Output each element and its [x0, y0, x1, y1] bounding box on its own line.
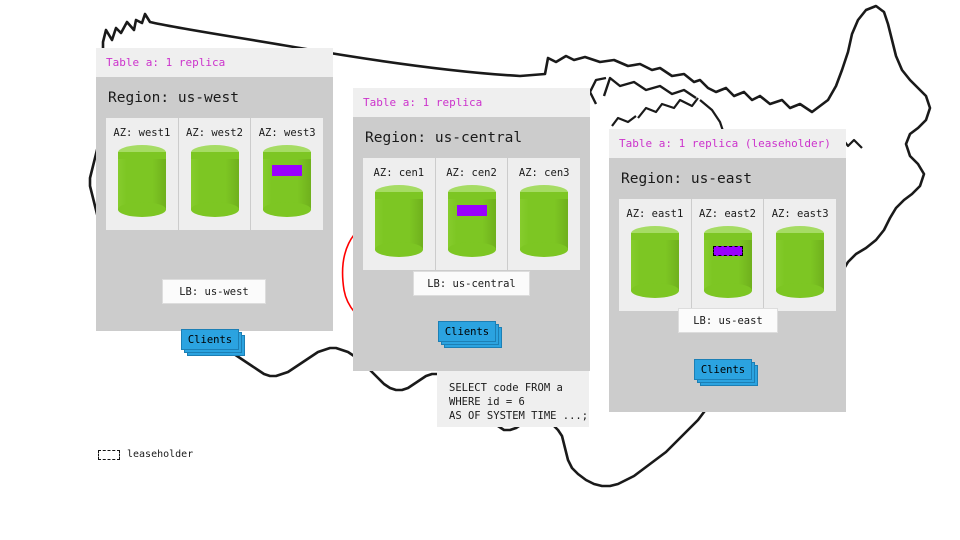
- cylinder-bottom: [118, 202, 166, 217]
- node-cylinder[interactable]: [263, 145, 311, 217]
- load-balancer-us-central[interactable]: LB: us-central: [413, 271, 530, 296]
- region-title-us-central: Region: us-central: [353, 117, 590, 158]
- az-label: AZ: cen1: [363, 158, 435, 179]
- cylinder-bottom: [704, 283, 752, 298]
- node-cylinder[interactable]: [191, 145, 239, 217]
- region-panel-us-west: Table a: 1 replica Region: us-west AZ: w…: [96, 48, 333, 331]
- az-label: AZ: east3: [764, 199, 836, 220]
- region-header-us-east: Table a: 1 replica (leaseholder): [609, 129, 846, 158]
- az-strip-us-central: AZ: cen1 AZ: cen2 AZ:: [363, 158, 580, 270]
- dashed-box-icon: [98, 450, 120, 460]
- clients-us-east[interactable]: Clients: [694, 359, 756, 383]
- node-cylinder[interactable]: [118, 145, 166, 217]
- legend-label: leaseholder: [127, 449, 193, 460]
- node-cylinder[interactable]: [520, 185, 568, 257]
- az-label: AZ: west1: [106, 118, 178, 139]
- az-west3[interactable]: AZ: west3: [251, 118, 323, 230]
- cylinder-bottom: [448, 242, 496, 257]
- az-east1[interactable]: AZ: east1: [619, 199, 692, 311]
- az-label: AZ: west3: [251, 118, 323, 139]
- cylinder-bottom: [263, 202, 311, 217]
- region-header-us-central: Table a: 1 replica: [353, 88, 590, 117]
- region-panel-us-east: Table a: 1 replica (leaseholder) Region:…: [609, 129, 846, 412]
- region-header-us-west: Table a: 1 replica: [96, 48, 333, 77]
- clients-label: Clients: [694, 359, 752, 380]
- clients-us-west[interactable]: Clients: [181, 329, 243, 353]
- legend-leaseholder: leaseholder: [98, 449, 193, 460]
- node-cylinder[interactable]: [631, 226, 679, 298]
- az-cen3[interactable]: AZ: cen3: [508, 158, 580, 270]
- az-label: AZ: west2: [179, 118, 251, 139]
- clients-label: Clients: [181, 329, 239, 350]
- node-cylinder[interactable]: [776, 226, 824, 298]
- az-label: AZ: east1: [619, 199, 691, 220]
- az-strip-us-east: AZ: east1 AZ: east2 A: [619, 199, 836, 311]
- cylinder-bottom: [375, 242, 423, 257]
- load-balancer-us-west[interactable]: LB: us-west: [162, 279, 266, 304]
- cylinder-bottom: [191, 202, 239, 217]
- az-cen1[interactable]: AZ: cen1: [363, 158, 436, 270]
- load-balancer-us-east[interactable]: LB: us-east: [678, 308, 778, 333]
- az-west1[interactable]: AZ: west1: [106, 118, 179, 230]
- cylinder-bottom: [520, 242, 568, 257]
- leaseholder-replica-marker: [713, 246, 743, 256]
- node-cylinder[interactable]: [375, 185, 423, 257]
- clients-label: Clients: [438, 321, 496, 342]
- clients-us-central[interactable]: Clients: [438, 321, 500, 345]
- node-cylinder[interactable]: [448, 185, 496, 257]
- az-label: AZ: east2: [692, 199, 764, 220]
- az-east3[interactable]: AZ: east3: [764, 199, 836, 311]
- region-title-us-west: Region: us-west: [96, 77, 333, 118]
- az-label: AZ: cen2: [436, 158, 508, 179]
- cylinder-bottom: [776, 283, 824, 298]
- az-cen2[interactable]: AZ: cen2: [436, 158, 509, 270]
- region-title-us-east: Region: us-east: [609, 158, 846, 199]
- cylinder-bottom: [631, 283, 679, 298]
- az-west2[interactable]: AZ: west2: [179, 118, 252, 230]
- sql-query-box: SELECT code FROM a WHERE id = 6 AS OF SY…: [437, 371, 589, 427]
- replica-marker: [272, 165, 302, 176]
- region-panel-us-central: Table a: 1 replica Region: us-central AZ…: [353, 88, 590, 371]
- az-east2[interactable]: AZ: east2: [692, 199, 765, 311]
- replica-marker: [457, 205, 487, 216]
- node-cylinder[interactable]: [704, 226, 752, 298]
- az-label: AZ: cen3: [508, 158, 580, 179]
- az-strip-us-west: AZ: west1 AZ: west2 AZ: west3: [106, 118, 323, 230]
